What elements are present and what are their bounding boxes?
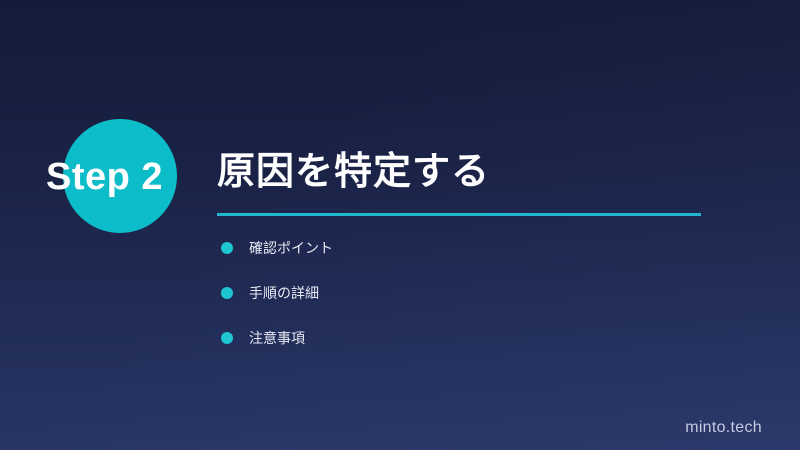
- title-divider: [217, 213, 701, 216]
- bullet-dot-icon: [221, 242, 233, 254]
- bullet-label: 注意事項: [249, 326, 305, 350]
- list-item: 確認ポイント: [221, 236, 333, 281]
- bullet-dot-icon: [221, 332, 233, 344]
- slide-title: 原因を特定する: [217, 148, 490, 196]
- slide-canvas: Step 2 原因を特定する 確認ポイント 手順の詳細 注意事項 minto.t…: [0, 0, 800, 450]
- bullet-label: 確認ポイント: [249, 236, 333, 260]
- footer-brand: minto.tech: [685, 419, 762, 437]
- bullet-dot-icon: [221, 287, 233, 299]
- step-badge-label: Step 2: [46, 155, 206, 199]
- list-item: 手順の詳細: [221, 281, 333, 326]
- bullet-list: 確認ポイント 手順の詳細 注意事項: [221, 236, 333, 371]
- list-item: 注意事項: [221, 326, 333, 371]
- bullet-label: 手順の詳細: [249, 281, 319, 305]
